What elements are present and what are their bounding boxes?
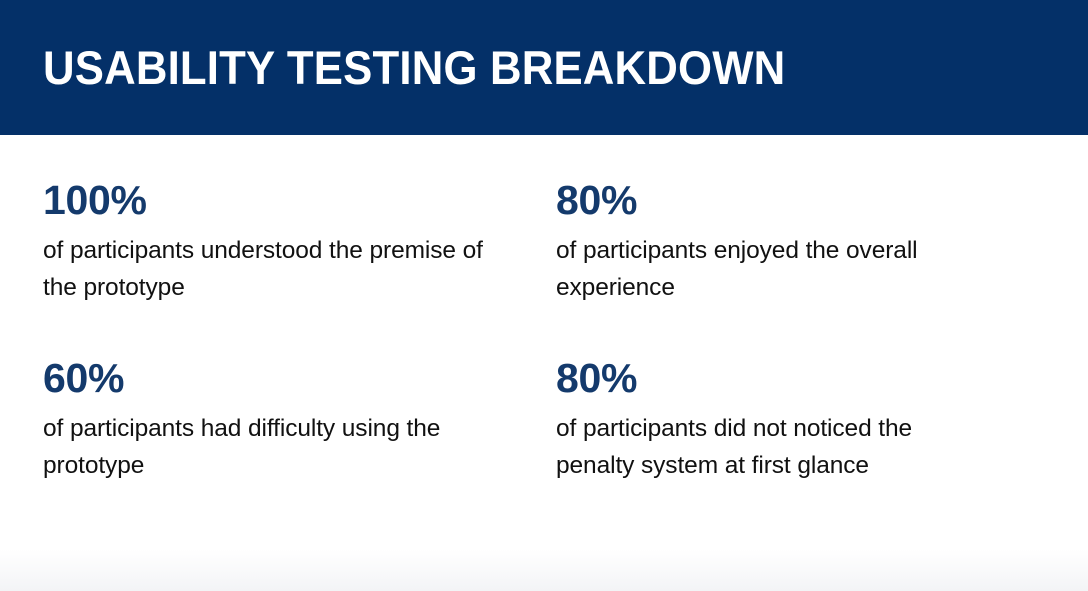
stat-block-3: 60% of participants had difficulty using… bbox=[43, 356, 556, 484]
stat-value-1: 100% bbox=[43, 178, 512, 224]
stats-area: 100% of participants understood the prem… bbox=[0, 135, 1088, 591]
page-title: USABILITY TESTING BREAKDOWN bbox=[43, 43, 785, 92]
stat-value-3: 60% bbox=[43, 356, 512, 402]
stat-description-1: of participants understood the premise o… bbox=[43, 232, 512, 306]
slide-root: USABILITY TESTING BREAKDOWN 100% of part… bbox=[0, 0, 1088, 591]
stat-value-2: 80% bbox=[556, 178, 1001, 224]
header-band: USABILITY TESTING BREAKDOWN bbox=[0, 0, 1088, 135]
stat-description-3: of participants had difficulty using the… bbox=[43, 410, 512, 484]
stat-description-4: of participants did not noticed the pena… bbox=[556, 410, 976, 484]
stat-block-2: 80% of participants enjoyed the overall … bbox=[556, 178, 1045, 306]
stat-block-1: 100% of participants understood the prem… bbox=[43, 178, 556, 306]
stats-grid: 100% of participants understood the prem… bbox=[43, 178, 1045, 484]
stat-description-2: of participants enjoyed the overall expe… bbox=[556, 232, 976, 306]
stat-value-4: 80% bbox=[556, 356, 1001, 402]
stat-block-4: 80% of participants did not noticed the … bbox=[556, 356, 1045, 484]
